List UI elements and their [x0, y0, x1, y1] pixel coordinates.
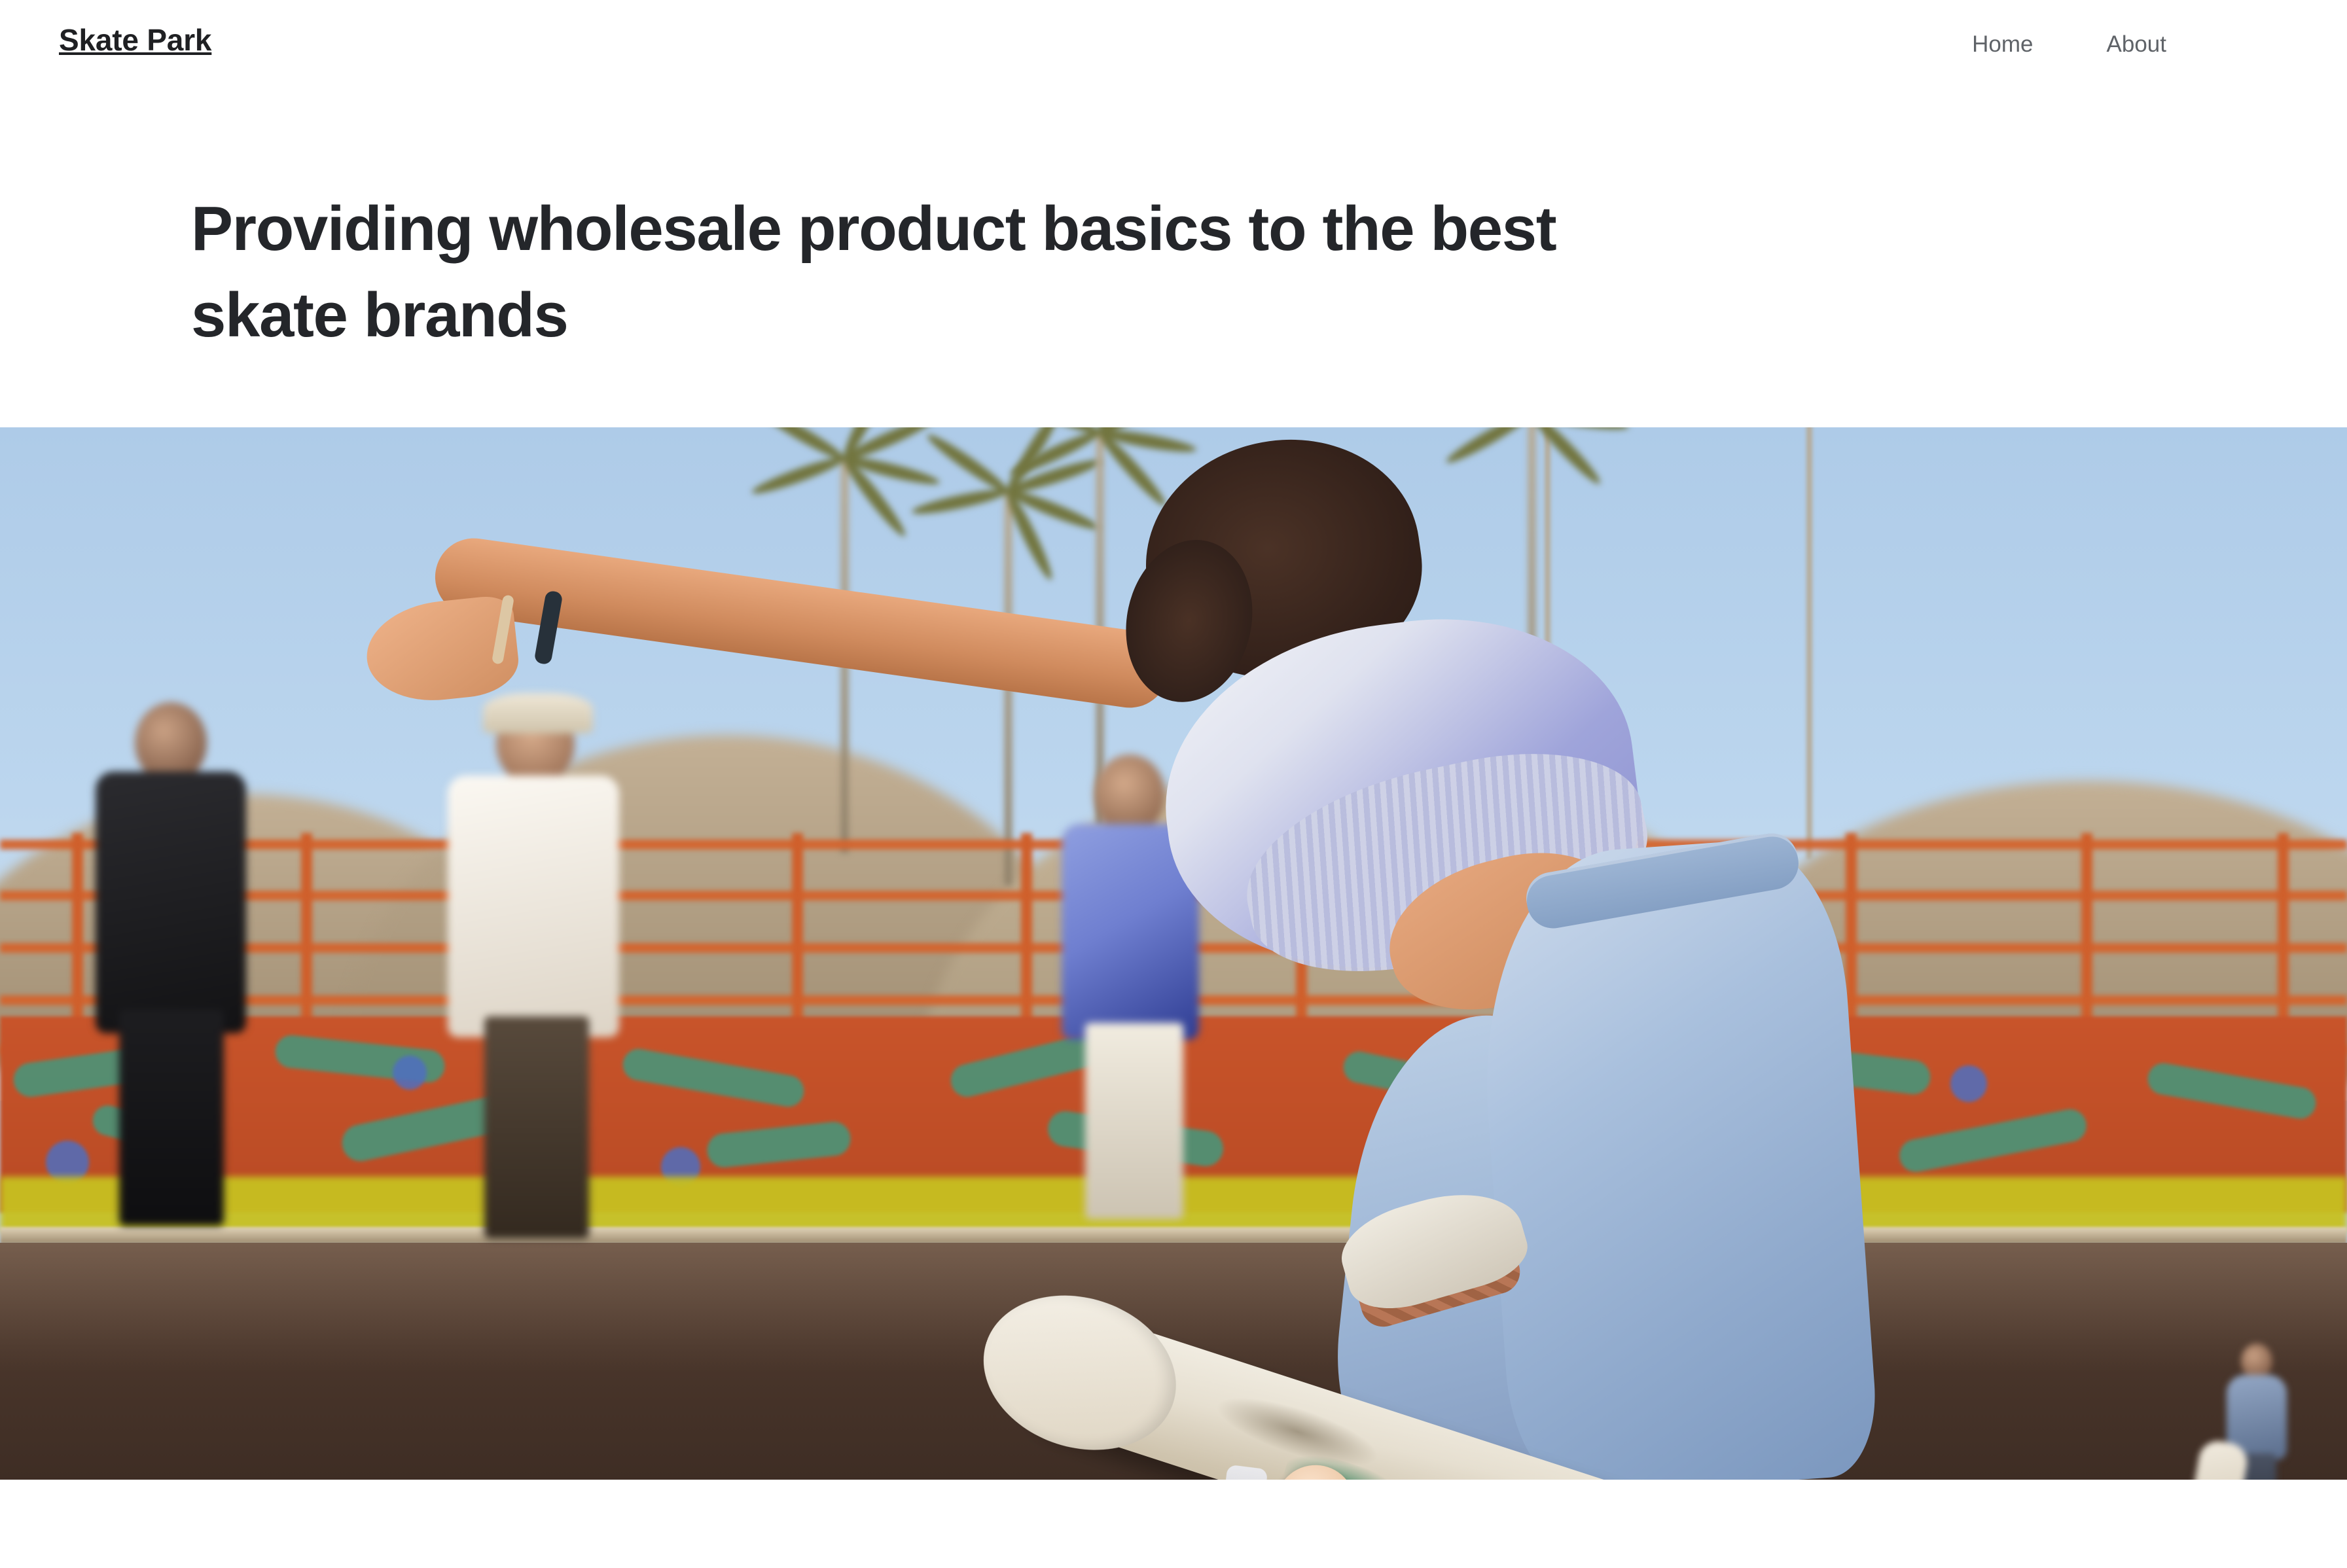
- hero-image: [0, 427, 2347, 1480]
- page-title: Providing wholesale product basics to th…: [191, 128, 1618, 359]
- site-header: Skate Park Home About: [0, 0, 2347, 128]
- below-fold-section: Let's work together: [0, 1480, 2347, 1568]
- hero-spacer: [0, 359, 2347, 427]
- section-heading: Let's work together: [353, 1563, 788, 1568]
- background-skater-dark: [79, 702, 262, 1239]
- distant-skater-right: [2212, 1344, 2297, 1480]
- nav-link-home[interactable]: Home: [1972, 31, 2033, 58]
- foreground-skater: [838, 427, 1819, 1480]
- hero-copy: Providing wholesale product basics to th…: [0, 128, 2347, 359]
- nav-link-about[interactable]: About: [2107, 31, 2166, 58]
- skater-jeans: [1471, 834, 1881, 1480]
- background-skater-white: [439, 702, 635, 1245]
- primary-navigation: Home About: [1972, 31, 2166, 58]
- site-logo[interactable]: Skate Park: [59, 22, 211, 58]
